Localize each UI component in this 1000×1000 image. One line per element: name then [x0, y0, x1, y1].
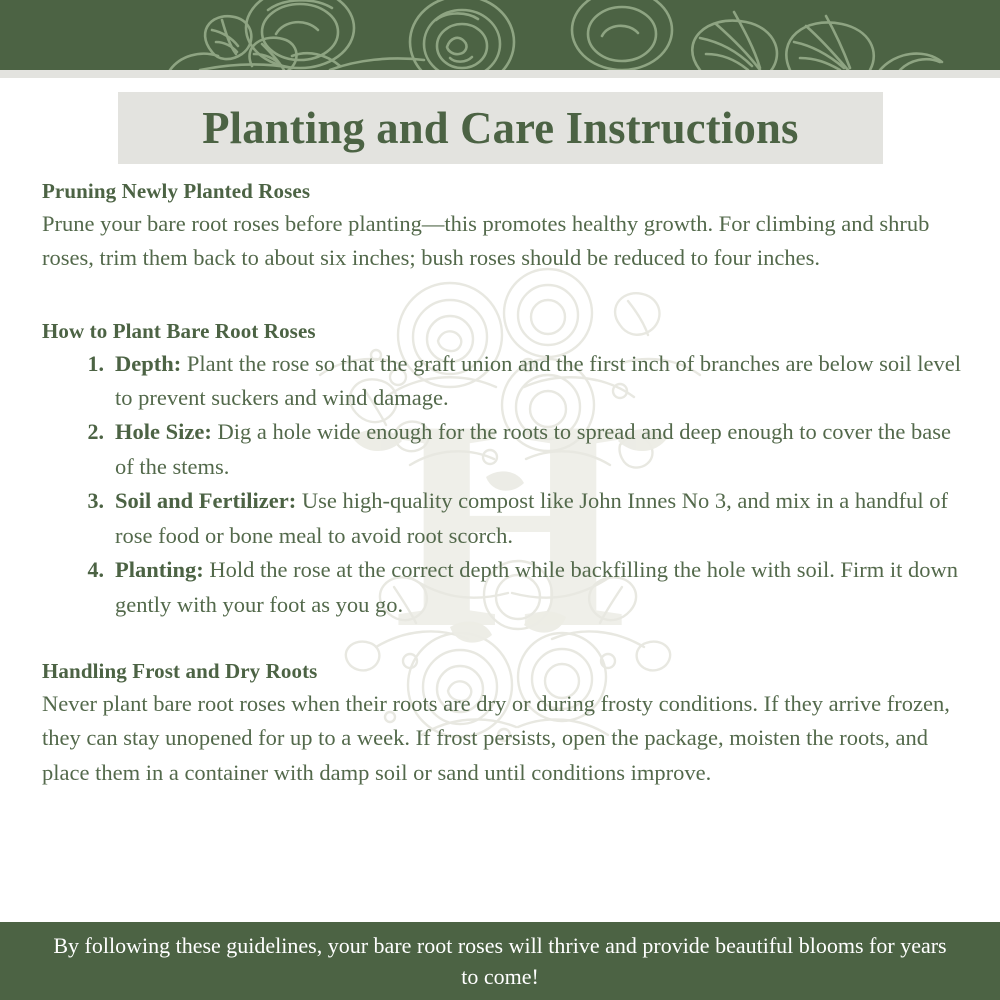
document-body: Pruning Newly Planted Roses Prune your b… — [42, 178, 964, 790]
section-frost-dry-roots: Handling Frost and Dry Roots Never plant… — [42, 658, 964, 790]
list-item: Soil and Fertilizer: Use high-quality co… — [42, 484, 964, 553]
footer-message: By following these guidelines, your bare… — [50, 930, 950, 993]
rose-and-leaf-line-art-banner — [0, 0, 1000, 70]
page-title: Planting and Care Instructions — [202, 105, 798, 151]
step-text: Dig a hole wide enough for the roots to … — [115, 419, 951, 478]
header-banner — [0, 0, 1000, 70]
step-term: Depth: — [115, 351, 181, 376]
section-pruning: Pruning Newly Planted Roses Prune your b… — [42, 178, 964, 276]
section-spacer — [42, 622, 964, 658]
step-text: Hold the rose at the correct depth while… — [115, 557, 958, 616]
footer-banner: By following these guidelines, your bare… — [0, 922, 1000, 1000]
page-title-banner: Planting and Care Instructions — [118, 92, 883, 164]
section-heading-how-to-plant: How to Plant Bare Root Roses — [42, 318, 964, 345]
step-text: Plant the rose so that the graft union a… — [115, 351, 961, 410]
section-how-to-plant: How to Plant Bare Root Roses Depth: Plan… — [42, 318, 964, 622]
section-heading-frost-dry-roots: Handling Frost and Dry Roots — [42, 658, 964, 685]
step-term: Soil and Fertilizer: — [115, 488, 296, 513]
section-heading-pruning: Pruning Newly Planted Roses — [42, 178, 964, 205]
section-body-pruning: Prune your bare root roses before planti… — [42, 207, 964, 276]
list-item: Hole Size: Dig a hole wide enough for th… — [42, 415, 964, 484]
list-item: Planting: Hold the rose at the correct d… — [42, 553, 964, 622]
planting-steps-list: Depth: Plant the rose so that the graft … — [42, 347, 964, 622]
step-term: Hole Size: — [115, 419, 212, 444]
document-page: H — [0, 0, 1000, 1000]
header-divider-rule — [0, 70, 1000, 78]
section-body-frost-dry-roots: Never plant bare root roses when their r… — [42, 687, 964, 790]
list-item: Depth: Plant the rose so that the graft … — [42, 347, 964, 416]
section-spacer — [42, 276, 964, 318]
step-term: Planting: — [115, 557, 204, 582]
